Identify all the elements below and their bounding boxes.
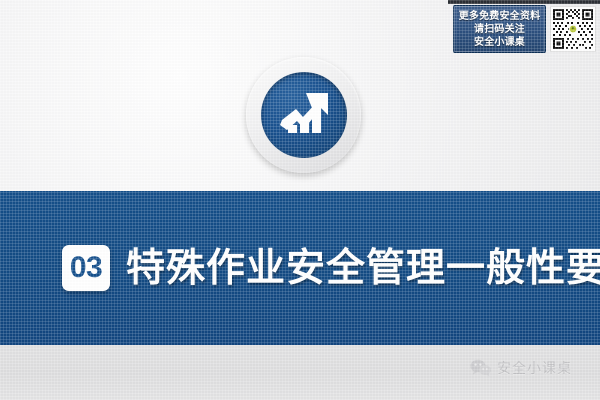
section-number-text: 03 bbox=[70, 253, 102, 283]
promo-banner: 更多免费安全资料 请扫码关注 安全小课桌 bbox=[453, 4, 596, 54]
watermark: 安全小课桌 bbox=[470, 358, 572, 378]
watermark-text: 安全小课桌 bbox=[497, 358, 572, 378]
slide-canvas: 更多免费安全资料 请扫码关注 安全小课桌 bbox=[0, 0, 600, 400]
section-number-badge: 03 bbox=[62, 245, 110, 291]
qr-code-icon[interactable] bbox=[550, 6, 596, 52]
growth-chart-arrow-icon bbox=[261, 72, 347, 158]
promo-line-3: 安全小课桌 bbox=[474, 36, 525, 49]
wechat-icon bbox=[470, 359, 492, 377]
promo-line-2: 请扫码关注 bbox=[474, 23, 525, 36]
page-title: 特殊作业安全管理一般性要求 bbox=[126, 249, 600, 288]
promo-line-1: 更多免费安全资料 bbox=[459, 10, 541, 23]
promo-text-box: 更多免费安全资料 请扫码关注 安全小课桌 bbox=[453, 5, 546, 53]
title-row: 03 特殊作业安全管理一般性要求 bbox=[0, 191, 600, 345]
emblem-ring bbox=[246, 57, 361, 173]
